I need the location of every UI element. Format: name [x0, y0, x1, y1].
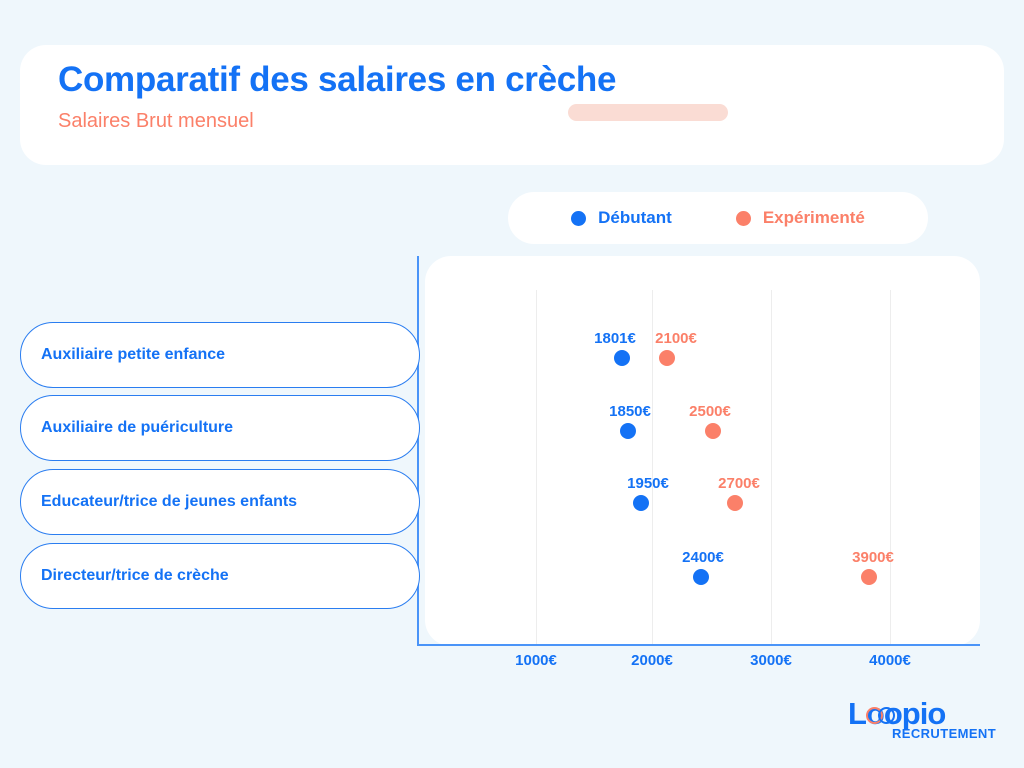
gridline-4000 — [890, 290, 891, 644]
gridline-2000 — [652, 290, 653, 644]
category-label-pill[interactable]: Auxiliaire petite enfance — [20, 322, 420, 388]
category-label-text: Educateur/trice de jeunes enfants — [41, 493, 297, 511]
x-tick-label-2000: 2000€ — [631, 652, 673, 669]
category-label-text: Auxiliaire petite enfance — [41, 346, 225, 364]
datapoint-marker[interactable] — [705, 423, 721, 439]
category-label-pill[interactable]: Directeur/trice de crèche — [20, 543, 420, 609]
header-card: Comparatif des salaires en crèche Salair… — [20, 45, 1004, 165]
datapoint-value-label: 1850€ — [609, 403, 651, 420]
legend-dot-blue-icon — [571, 211, 586, 226]
logo-tagline: RECRUTEMENT — [892, 726, 996, 741]
datapoint-value-label: 2100€ — [655, 330, 697, 347]
x-axis-line — [417, 644, 980, 646]
datapoint-marker[interactable] — [633, 495, 649, 511]
datapoint-marker[interactable] — [693, 569, 709, 585]
datapoint-value-label: 3900€ — [852, 549, 894, 566]
datapoint-value-label: 1950€ — [627, 475, 669, 492]
datapoint-marker[interactable] — [614, 350, 630, 366]
legend-item-debutant[interactable]: Débutant — [571, 208, 672, 228]
category-label-text: Auxiliaire de puériculture — [41, 419, 233, 437]
brand-logo: Loopio RECRUTEMENT — [848, 698, 988, 748]
gridline-1000 — [536, 290, 537, 644]
legend-dot-coral-icon — [736, 211, 751, 226]
logo-ring-blue-icon — [878, 707, 895, 724]
datapoint-marker[interactable] — [727, 495, 743, 511]
chart-legend: Débutant Expérimenté — [508, 192, 928, 244]
title-block: Comparatif des salaires en crèche Salair… — [58, 60, 616, 133]
gridline-3000 — [771, 290, 772, 644]
datapoint-value-label: 1801€ — [594, 330, 636, 347]
category-label-pill[interactable]: Auxiliaire de puériculture — [20, 395, 420, 461]
x-tick-label-3000: 3000€ — [750, 652, 792, 669]
datapoint-value-label: 2400€ — [682, 549, 724, 566]
datapoint-marker[interactable] — [659, 350, 675, 366]
category-label-pill[interactable]: Educateur/trice de jeunes enfants — [20, 469, 420, 535]
category-label-text: Directeur/trice de crèche — [41, 567, 229, 585]
legend-label-debutant: Débutant — [598, 208, 672, 228]
chart-plot-area — [425, 256, 980, 646]
x-tick-label-1000: 1000€ — [515, 652, 557, 669]
legend-label-experimente: Expérimenté — [763, 208, 865, 228]
datapoint-marker[interactable] — [620, 423, 636, 439]
x-tick-label-4000: 4000€ — [869, 652, 911, 669]
datapoint-marker[interactable] — [861, 569, 877, 585]
datapoint-value-label: 2500€ — [689, 403, 731, 420]
page-subtitle: Salaires Brut mensuel — [58, 110, 616, 133]
legend-item-experimente[interactable]: Expérimenté — [736, 208, 865, 228]
page-title: Comparatif des salaires en crèche — [58, 60, 616, 100]
datapoint-value-label: 2700€ — [718, 475, 760, 492]
